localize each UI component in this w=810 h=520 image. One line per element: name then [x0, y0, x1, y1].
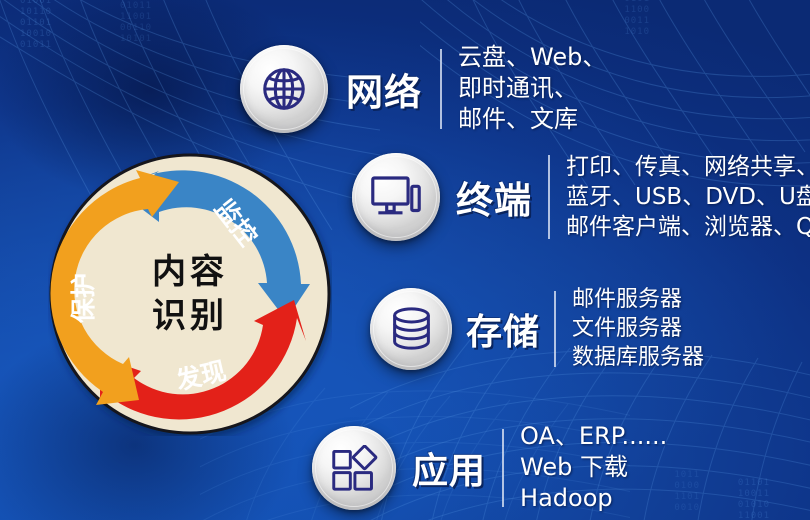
- network-description: 云盘、Web、 即时通讯、 邮件、文库: [458, 42, 606, 135]
- apps-icon: [330, 445, 378, 491]
- binary-stream: 10100 01011 11001 00110 10101: [120, 0, 152, 45]
- storage-label: 存储: [466, 303, 540, 355]
- network-badge[interactable]: [240, 45, 328, 133]
- application-badge[interactable]: [312, 426, 396, 510]
- storage-desc-line: 邮件服务器: [572, 285, 704, 314]
- category-row-network[interactable]: 网络 云盘、Web、 即时通讯、 邮件、文库: [240, 42, 606, 135]
- cycle-arrow-label-protect: 保护: [69, 273, 98, 324]
- binary-stream: 01001 10110 01101 10010 01011: [20, 0, 52, 51]
- category-row-application[interactable]: 应用 OA、ERP...... Web 下载 Hadoop: [312, 421, 667, 514]
- application-divider: [502, 429, 504, 507]
- storage-desc-line: 文件服务器: [572, 314, 704, 343]
- category-row-terminal[interactable]: 终端 打印、传真、网络共享、 蓝牙、USB、DVD、U盘、 邮件客户端、浏览器、…: [352, 152, 810, 242]
- terminal-description: 打印、传真、网络共享、 蓝牙、USB、DVD、U盘、 邮件客户端、浏览器、QQ: [566, 152, 810, 242]
- terminal-label: 终端: [456, 170, 532, 224]
- application-desc-line: Hadoop: [520, 483, 667, 514]
- category-row-storage[interactable]: 存储 邮件服务器 文件服务器 数据库服务器: [370, 285, 704, 372]
- network-desc-line: 即时通讯、: [458, 73, 606, 104]
- network-label: 网络: [346, 62, 422, 116]
- network-divider: [440, 49, 442, 129]
- network-desc-line: 邮件、文库: [458, 104, 606, 135]
- database-icon: [389, 305, 434, 352]
- terminal-desc-line: 蓝牙、USB、DVD、U盘、: [566, 182, 810, 212]
- terminal-desc-line: 打印、传真、网络共享、: [566, 152, 810, 182]
- storage-divider: [554, 291, 556, 367]
- terminal-desc-line: 邮件客户端、浏览器、QQ: [566, 212, 810, 242]
- terminal-badge[interactable]: [352, 153, 440, 241]
- application-label: 应用: [412, 442, 486, 494]
- network-desc-line: 云盘、Web、: [458, 42, 606, 73]
- terminal-divider: [548, 155, 550, 239]
- binary-stream: 01101 10011 01010 11001: [738, 478, 770, 520]
- storage-description: 邮件服务器 文件服务器 数据库服务器: [572, 285, 704, 372]
- storage-desc-line: 数据库服务器: [572, 343, 704, 372]
- storage-badge[interactable]: [370, 288, 452, 370]
- infographic-canvas: 01001 10110 01101 10010 01011 10100 0101…: [0, 0, 810, 520]
- globe-icon: [259, 64, 309, 114]
- application-description: OA、ERP...... Web 下载 Hadoop: [520, 421, 667, 514]
- binary-stream: 0101 1100 0011 1010: [624, 0, 650, 38]
- application-desc-line: OA、ERP......: [520, 421, 667, 452]
- application-desc-line: Web 下载: [520, 452, 667, 483]
- binary-stream: 1011 0100 1101 0010: [674, 470, 700, 514]
- content-recognition-cycle: 监控 发现 保护: [48, 152, 332, 436]
- monitor-icon: [370, 174, 422, 221]
